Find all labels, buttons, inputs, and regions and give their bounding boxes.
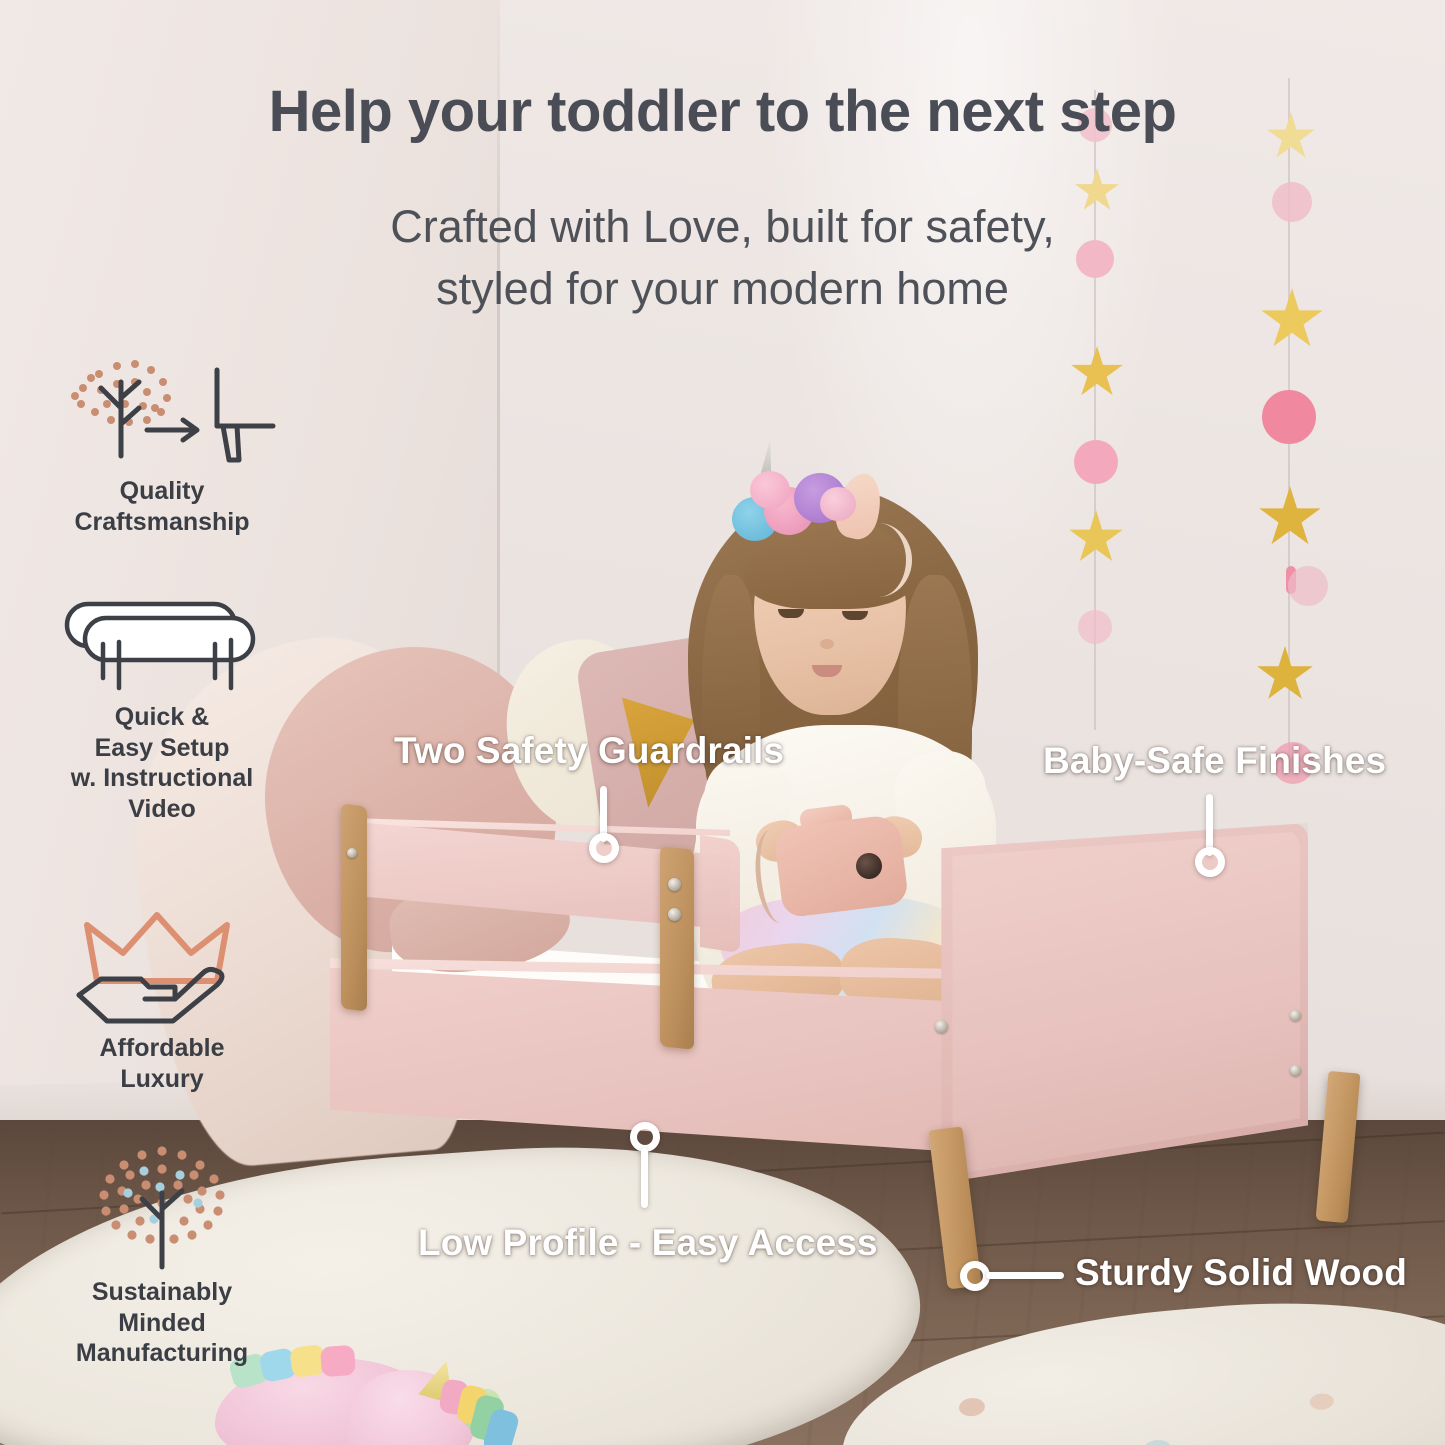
footboard-face <box>938 828 1300 1178</box>
callout-label: Low Profile - Easy Access <box>418 1222 878 1264</box>
tree-to-furniture-icon <box>47 352 277 470</box>
product-infographic: ★ ★ ★ ★ ★ ★ ★ <box>0 0 1445 1445</box>
subtitle-line-1: Crafted with Love, built for safety, <box>0 196 1445 258</box>
feature-quality-craftsmanship: Quality Craftsmanship <box>28 352 296 544</box>
subtitle-line-2: styled for your modern home <box>0 258 1445 320</box>
callout-stem <box>986 1272 1064 1279</box>
feature-list: Quality Craftsmanship Quick & Easy Setup… <box>28 352 296 1371</box>
bed-frame-icon <box>57 596 267 696</box>
bed-leg-back <box>1316 1071 1361 1223</box>
feature-label: Quality Craftsmanship <box>28 476 296 537</box>
nose <box>820 639 834 649</box>
callout-label: Sturdy Solid Wood <box>1075 1252 1407 1294</box>
guardrail-post-right <box>660 846 694 1050</box>
dotted-tree-icon <box>62 1141 262 1271</box>
crown-in-hand-icon <box>57 909 267 1027</box>
feature-label: Sustainably Minded Manufacturing <box>28 1277 296 1369</box>
callout-marker <box>1195 847 1225 877</box>
feature-sustainably-minded: Sustainably Minded Manufacturing <box>28 1141 296 1371</box>
feature-label: Quick & Easy Setup w. Instructional Vide… <box>28 702 296 824</box>
feature-affordable-luxury: Affordable Luxury <box>28 909 296 1117</box>
page-title: Help your toddler to the next step <box>0 78 1445 145</box>
page-subtitle: Crafted with Love, built for safety, sty… <box>0 196 1445 320</box>
guardrail-post-left <box>341 803 367 1011</box>
callout-marker <box>589 833 619 863</box>
feature-quick-easy-setup: Quick & Easy Setup w. Instructional Vide… <box>28 596 296 881</box>
callout-stem <box>641 1148 648 1208</box>
feature-label: Affordable Luxury <box>28 1033 296 1094</box>
toy-camera <box>773 814 909 919</box>
callout-label: Baby-Safe Finishes <box>1043 740 1386 782</box>
callout-label: Two Safety Guardrails <box>394 730 784 772</box>
